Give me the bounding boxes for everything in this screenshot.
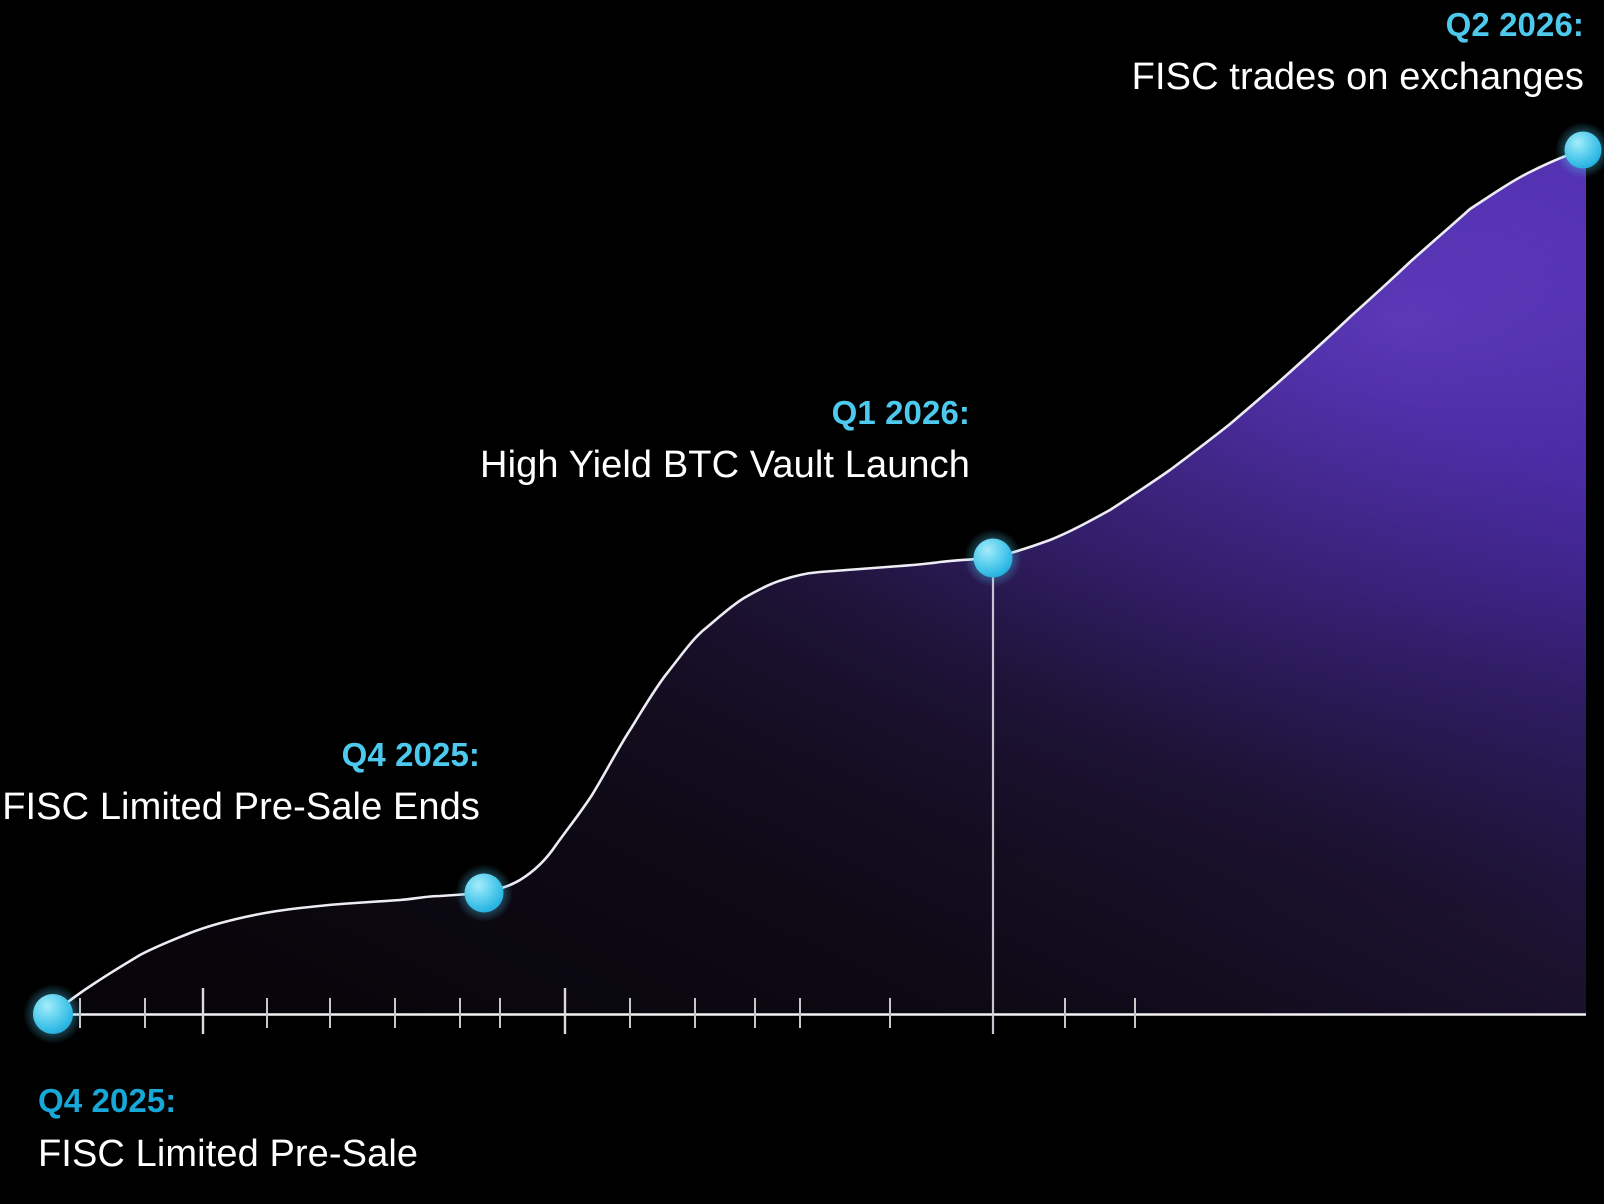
curve-area-fill bbox=[53, 150, 1586, 1014]
roadmap-chart-canvas: Q2 2026: FISC trades on exchanges Q1 202… bbox=[0, 0, 1604, 1204]
milestone-node-q4-2025-ends[interactable] bbox=[455, 864, 513, 922]
milestone-node-q1-2026[interactable] bbox=[964, 529, 1022, 587]
growth-curve-chart bbox=[0, 0, 1604, 1204]
milestone-node-q4-2025-start[interactable] bbox=[23, 984, 83, 1044]
